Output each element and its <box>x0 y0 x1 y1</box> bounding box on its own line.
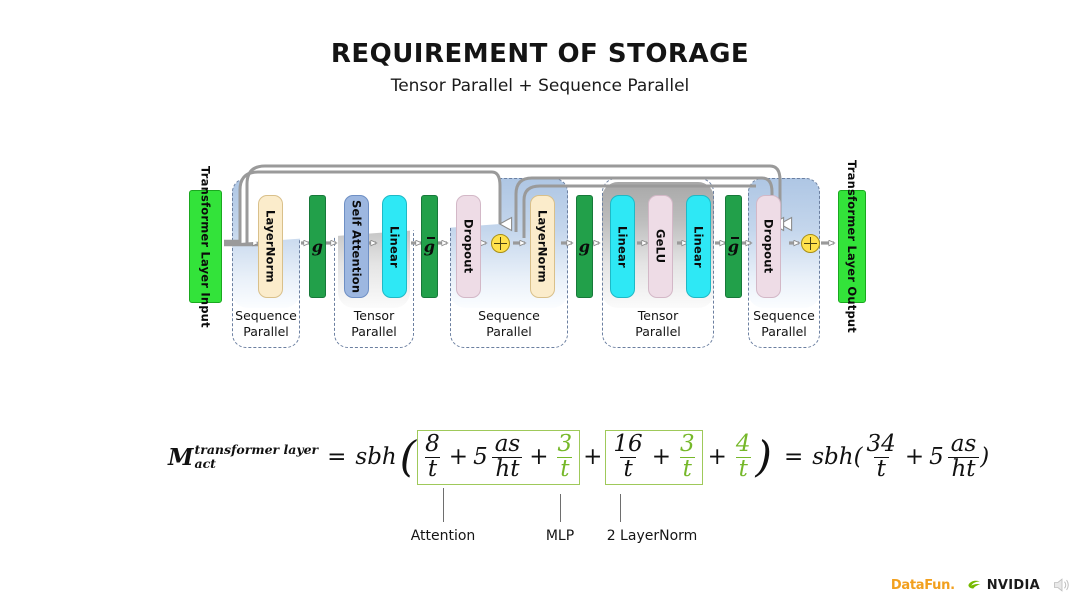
formula-plus-after-mlp: + <box>708 444 727 470</box>
annot-attention: Attention <box>383 528 503 544</box>
term-4-over-t-num: 4 <box>733 433 754 457</box>
term-8-over-t-num: 8 <box>422 433 443 457</box>
term-4-over-t: 4 t <box>733 433 754 482</box>
block-layernorm-2-label: LayerNorm <box>536 210 550 283</box>
term-8-over-t-den: t <box>425 457 440 482</box>
formula-lhs-subscript: act <box>194 457 318 471</box>
block-linear-3[interactable]: Linear <box>686 195 711 298</box>
formula-expression: M transformer layer act = sbh ( 8 t + 5 … <box>168 430 989 485</box>
block-add-1[interactable] <box>491 234 510 253</box>
gbar-1-overbar <box>427 237 435 239</box>
block-gbar-2[interactable]: g <box>725 195 742 298</box>
block-linear-3-label: Linear <box>692 226 706 268</box>
formula-plus-a: + <box>449 444 468 470</box>
formula-mlp-group: 16 t + 3 t <box>605 430 702 485</box>
block-layernorm-2[interactable]: LayerNorm <box>530 195 555 298</box>
formula-prefix-1: sbh <box>355 444 396 470</box>
formula-rhs-plus: + <box>905 444 924 470</box>
block-self-attention-label: Self Attention <box>350 200 364 293</box>
formula-lhs: M transformer layer act <box>168 443 318 472</box>
formula-attention-group: 8 t + 5 as ht + 3 t <box>417 430 580 485</box>
block-dropout-2-label: Dropout <box>762 219 776 273</box>
block-transformer-layer-output[interactable]: Transformer Layer Output <box>838 190 866 303</box>
formula-plus-b: + <box>529 444 548 470</box>
formula-open-paren-1: ( <box>400 441 416 474</box>
formula-close-paren-2: ) <box>980 444 989 470</box>
term-16-over-t-den: t <box>620 457 635 482</box>
block-linear-2-label: Linear <box>616 226 630 268</box>
formula-join-plus: + <box>583 444 602 470</box>
architecture-diagram: Sequence Parallel Tensor Parallel Sequen… <box>0 150 1080 360</box>
block-dropout-1[interactable]: Dropout <box>456 195 481 298</box>
footer-logos: DataFun. NVIDIA <box>891 568 1072 602</box>
block-linear-1-label: Linear <box>388 226 402 268</box>
term-3-over-t-mlp-den: t <box>680 457 695 482</box>
formula-open-paren-2: ( <box>854 444 863 470</box>
formula-equals-2: = <box>784 444 803 470</box>
page-subtitle: Tensor Parallel + Sequence Parallel <box>0 76 1080 96</box>
term-3-over-t-attn-num: 3 <box>555 433 576 457</box>
nvidia-eye-icon <box>967 579 984 591</box>
formula-close-paren-1: ) <box>756 441 772 474</box>
formula-lhs-superscript: transformer layer <box>194 443 318 457</box>
block-add-2[interactable] <box>801 234 820 253</box>
block-layernorm-1[interactable]: LayerNorm <box>258 195 283 298</box>
formula-lhs-symbol: M <box>168 444 193 471</box>
block-transformer-layer-input-label: Transformer Layer Input <box>199 166 213 328</box>
storage-formula: M transformer layer act = sbh ( 8 t + 5 … <box>0 400 1080 520</box>
term-34-over-t: 34 t <box>864 433 899 482</box>
header: REQUIREMENT OF STORAGE Tensor Parallel +… <box>0 40 1080 96</box>
term-8-over-t: 8 t <box>422 433 443 482</box>
formula-equals-1: = <box>327 444 346 470</box>
gbar-2-overbar <box>731 237 739 239</box>
block-gbar-1-label: g <box>424 237 435 256</box>
term-3-over-t-mlp-num: 3 <box>677 433 698 457</box>
annot-line-mlp <box>560 494 561 522</box>
block-gbar-2-label: g <box>728 237 739 256</box>
term-4-over-t-den: t <box>736 457 751 482</box>
nvidia-wordmark: NVIDIA <box>987 578 1040 593</box>
block-gelu[interactable]: GeLU <box>648 195 673 298</box>
annot-layernorm: 2 LayerNorm <box>588 528 716 544</box>
block-linear-2[interactable]: Linear <box>610 195 635 298</box>
annot-line-attention <box>443 488 444 522</box>
block-g-2-label: g <box>579 237 590 256</box>
page-title: REQUIREMENT OF STORAGE <box>0 40 1080 69</box>
block-gelu-label: GeLU <box>654 229 668 263</box>
annot-line-layernorm <box>620 494 621 522</box>
term-as-over-ht-num: as <box>492 433 524 457</box>
term-16-over-t-num: 16 <box>610 433 645 457</box>
formula-rhs-coef: 5 <box>929 444 944 470</box>
block-g-1-label: g <box>312 237 323 256</box>
formula-prefix-2: sbh <box>812 444 853 470</box>
term-as-over-ht-den: ht <box>492 457 522 482</box>
block-self-attention[interactable]: Self Attention <box>344 195 369 298</box>
block-linear-1[interactable]: Linear <box>382 195 407 298</box>
block-transformer-layer-input[interactable]: Transformer Layer Input <box>189 190 222 303</box>
formula-mlp-plus: + <box>652 444 671 470</box>
term-as-over-ht-rhs-den: ht <box>948 457 978 482</box>
datafun-logo: DataFun. <box>891 578 955 593</box>
nvidia-logo: NVIDIA <box>967 578 1040 593</box>
term-34-over-t-den: t <box>874 457 889 482</box>
block-layernorm-1-label: LayerNorm <box>264 210 278 283</box>
block-g-2[interactable]: g <box>576 195 593 298</box>
term-as-over-ht-rhs: as ht <box>948 433 980 482</box>
term-as-over-ht-rhs-num: as <box>948 433 980 457</box>
block-dropout-1-label: Dropout <box>462 219 476 273</box>
term-34-over-t-num: 34 <box>864 433 899 457</box>
block-transformer-layer-output-label: Transformer Layer Output <box>845 160 859 333</box>
term-as-over-ht: as ht <box>492 433 524 482</box>
block-g-1[interactable]: g <box>309 195 326 298</box>
term-3-over-t-attn-den: t <box>557 457 572 482</box>
speaker-icon[interactable] <box>1052 576 1072 594</box>
block-dropout-2[interactable]: Dropout <box>756 195 781 298</box>
term-3-over-t-mlp: 3 t <box>677 433 698 482</box>
term-3-over-t-attn: 3 t <box>555 433 576 482</box>
formula-coef-5: 5 <box>473 444 488 470</box>
term-16-over-t: 16 t <box>610 433 645 482</box>
block-gbar-1[interactable]: g <box>421 195 438 298</box>
